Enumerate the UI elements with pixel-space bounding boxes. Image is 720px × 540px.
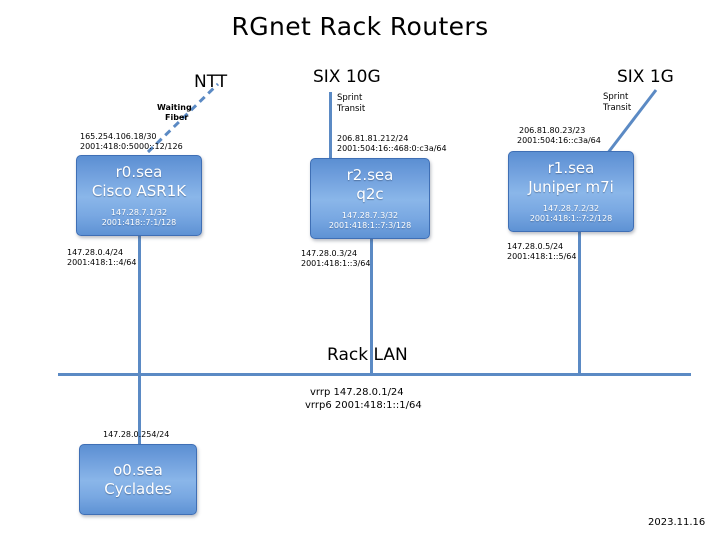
router-loopback6-r0: 2001:418::7:1/128 [102,218,177,228]
lan-ip4-o0: 147.28.0.254/24 [103,430,169,441]
peer-note-six10g-line2: Transit [337,104,365,115]
uplink-ip4-r0: 165.254.106.18/30 [80,132,157,143]
router-node-r1[interactable]: r1.sea Juniper m7i 147.28.7.2/32 2001:41… [508,151,634,232]
lan-ip4-r0: 147.28.0.4/24 [67,248,123,259]
router-name-r0: r0.sea [116,163,163,182]
router-node-r2[interactable]: r2.sea q2c 147.28.7.3/32 2001:418:1::7:3… [310,158,430,239]
router-model-r0: Cisco ASR1K [92,182,186,201]
router-model-r2: q2c [356,185,383,204]
router-loopback6-r2: 2001:418:1::7:3/128 [329,221,411,231]
uplink-ip6-r1: 2001:504:16::c3a/64 [517,136,601,147]
lan-ip4-r1: 147.28.0.5/24 [507,242,563,253]
router-loopback4-r1: 147.28.7.2/32 [543,204,599,214]
peer-note-ntt-line1: Waiting [157,103,192,113]
uplink-ip6-r0: 2001:418:0:5000::12/126 [80,142,183,153]
lan-drop-r0 [138,236,141,374]
lan-ip4-r2: 147.28.0.3/24 [301,249,357,260]
lan-ip6-r2: 2001:418:1::3/64 [301,259,370,270]
page-title: RGnet Rack Routers [0,12,720,41]
router-node-r0[interactable]: r0.sea Cisco ASR1K 147.28.7.1/32 2001:41… [76,155,202,236]
vrrp-v6-label: vrrp6 2001:418:1::1/64 [305,399,422,412]
peer-note-six1g-line1: Sprint [603,92,628,103]
lan-ip6-r1: 2001:418:1::5/64 [507,252,576,263]
rack-lan-label: Rack LAN [327,345,408,365]
peer-label-six1g: SIX 1G [617,67,674,87]
router-name-r2: r2.sea [347,166,394,185]
diagram-canvas: RGnet Rack Routers NTT Waiting Fiber SIX… [0,0,720,540]
router-loopback4-r2: 147.28.7.3/32 [342,211,398,221]
date-stamp: 2023.11.16 [648,517,705,528]
rack-lan-bus [58,373,691,376]
peer-label-ntt: NTT [194,72,227,92]
console-name-o0: o0.sea [113,461,163,480]
peer-label-six10g: SIX 10G [313,67,381,87]
lan-drop-r1 [578,231,581,374]
peer-note-six1g-line2: Transit [603,103,631,114]
lan-ip6-r0: 2001:418:1::4/64 [67,258,136,269]
uplink-ip6-r2: 2001:504:16::468:0:c3a/64 [337,144,447,155]
uplink-ip4-r2: 206.81.81.212/24 [337,134,408,145]
console-model-o0: Cyclades [104,480,172,499]
router-loopback6-r1: 2001:418:1::7:2/128 [530,214,612,224]
uplink-line-six10g [329,92,332,164]
router-loopback4-r0: 147.28.7.1/32 [111,208,167,218]
peer-note-ntt-line2: Fiber [165,113,188,123]
console-node-o0[interactable]: o0.sea Cyclades [79,444,197,515]
vrrp-v4-label: vrrp 147.28.0.1/24 [310,386,404,399]
router-model-r1: Juniper m7i [528,178,614,197]
peer-note-six10g-line1: Sprint [337,93,362,104]
uplink-ip4-r1: 206.81.80.23/23 [519,126,585,137]
router-name-r1: r1.sea [548,159,595,178]
